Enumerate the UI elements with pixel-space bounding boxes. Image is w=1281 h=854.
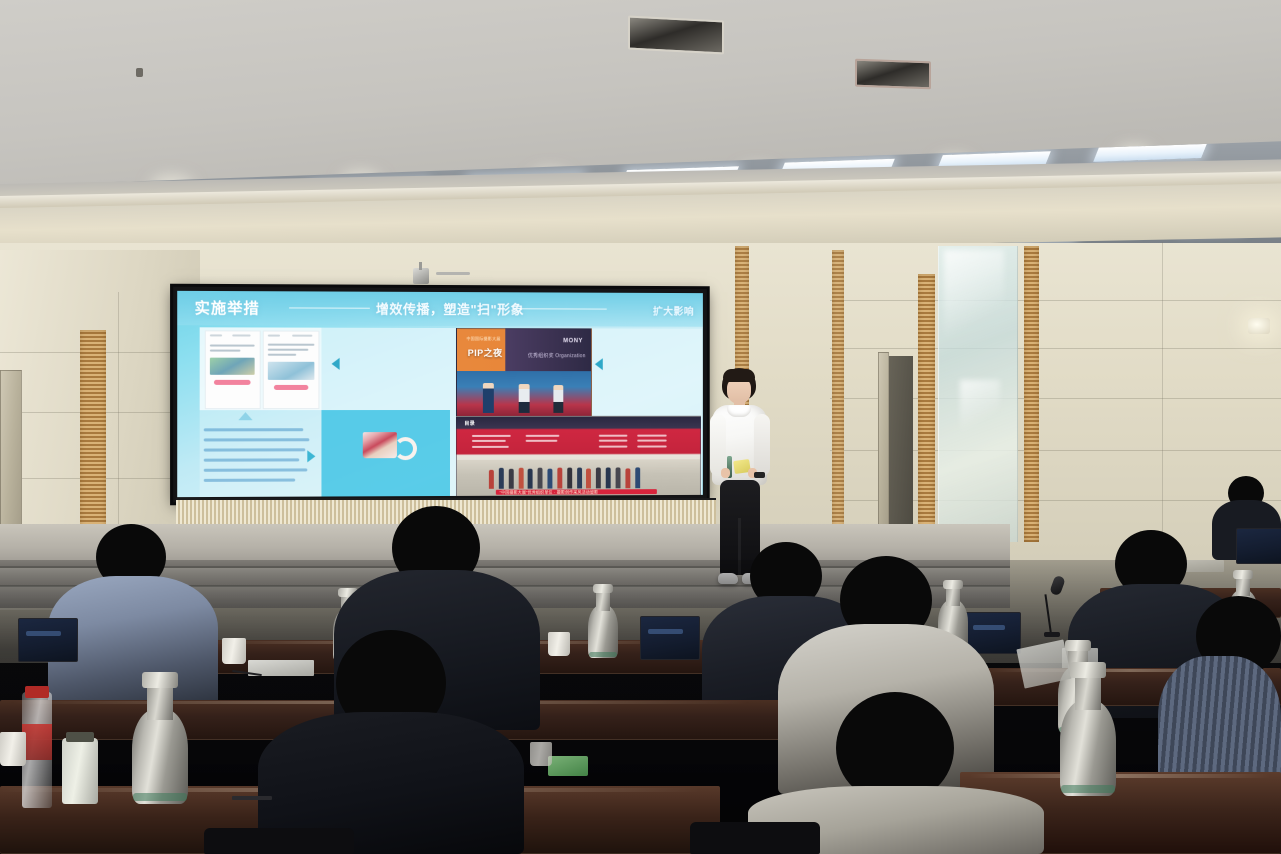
laptop-screen-glow xyxy=(973,625,1005,630)
arrow-left-icon xyxy=(332,358,340,370)
microphone-base xyxy=(1044,632,1060,637)
article-thumbnail xyxy=(210,358,255,375)
ceramic-cup-4 xyxy=(0,732,26,766)
thermos-body xyxy=(132,709,188,804)
award-figure xyxy=(519,384,530,413)
catalog-line xyxy=(526,434,560,436)
text-line xyxy=(292,335,312,337)
thermos-cap xyxy=(593,584,612,593)
poster-right-subheadline: 优秀组织奖 Organization xyxy=(528,352,586,359)
slide-center-title: 增效传播，塑造"扫"形象 xyxy=(376,299,524,319)
group-photo-banner: "中国摄影大展"优秀组织单位 · 摄影创作采风活动留影 xyxy=(496,489,656,495)
wood-slat-accent-far2 xyxy=(832,250,844,538)
campaign-text-line xyxy=(204,468,308,471)
arrow-right-icon xyxy=(307,450,315,462)
poster-subheadline: 中国国际摄影大展 xyxy=(466,336,500,342)
campaign-text-line xyxy=(204,438,310,441)
text-line xyxy=(210,345,255,347)
thermos-base-ring xyxy=(1061,785,1115,793)
group-member xyxy=(528,468,533,488)
thermos-body xyxy=(1060,700,1116,796)
table-highlight xyxy=(970,774,1270,778)
wechat-screenshot-b xyxy=(263,331,320,410)
thermos-cap xyxy=(943,580,962,589)
group-member xyxy=(586,468,591,488)
laptop-9 xyxy=(1236,528,1281,562)
hvac-vent-center xyxy=(628,15,724,54)
arrow-left-icon-2 xyxy=(595,358,603,370)
door-left xyxy=(0,370,22,544)
text-line xyxy=(268,335,280,337)
presenter-collar xyxy=(727,405,751,417)
catalog-line xyxy=(637,440,666,442)
group-member xyxy=(547,468,552,488)
text-line xyxy=(210,350,241,352)
article-thumbnail xyxy=(268,362,315,380)
ceiling-panel-light xyxy=(1093,144,1207,162)
wall-seam xyxy=(1162,242,1163,542)
presenter-fringe xyxy=(723,369,755,382)
group-member xyxy=(538,468,543,489)
thermos-flask-f xyxy=(132,672,188,804)
laptop-1 xyxy=(18,618,76,660)
article-button[interactable] xyxy=(274,385,308,390)
poster-headline: PIP之夜 xyxy=(468,346,503,359)
campaign-text-line xyxy=(204,448,306,451)
presenter-wristwatch xyxy=(754,472,765,478)
tissue-box-b xyxy=(548,756,588,776)
ceramic-cup-3 xyxy=(530,742,552,766)
poster-right-headline: MONY xyxy=(563,338,583,344)
slide-pale-column xyxy=(321,328,450,410)
text-line xyxy=(268,349,309,351)
chair-back-left xyxy=(204,828,354,854)
catalog-group-photo-poster: 目录 xyxy=(456,416,701,497)
group-photo: "中国摄影大展"优秀组织单位 · 摄影创作采风活动留影 xyxy=(457,459,700,496)
ceramic-cup-1 xyxy=(222,638,246,664)
bottle-label xyxy=(22,724,52,760)
laptop-screen-glow xyxy=(26,631,61,636)
slide-pale-lower-left xyxy=(200,410,322,497)
thermos-cap xyxy=(142,672,178,688)
wood-slat-accent-left xyxy=(80,330,106,545)
award-figure xyxy=(554,385,564,413)
text-line xyxy=(268,354,296,356)
laptop-screen xyxy=(640,616,700,660)
slide-right-title: 扩大影响 xyxy=(653,303,694,318)
presenter-left-arm xyxy=(710,414,726,476)
thermos-base-ring xyxy=(589,652,618,656)
text-line xyxy=(268,344,315,346)
wall-sconce-light xyxy=(1248,318,1270,334)
gooseneck-microphone-a[interactable] xyxy=(1036,576,1076,636)
group-member xyxy=(606,468,611,488)
led-display-screen: 实施举措 增效传播，塑造"扫"形象 扩大影响 xyxy=(173,287,707,502)
campaign-text-line xyxy=(204,428,304,431)
presenter-left-hand xyxy=(721,468,730,478)
laptop-screen xyxy=(18,618,78,662)
pen-2 xyxy=(232,796,272,800)
catalog-line xyxy=(472,440,506,442)
wall-seam xyxy=(118,292,119,532)
wechat-screenshot-a xyxy=(205,330,261,409)
ceiling-projector xyxy=(413,268,429,284)
group-member xyxy=(615,467,620,488)
glass-reflection xyxy=(960,380,1000,450)
slide-title: 实施举措 xyxy=(195,297,260,318)
pip-award-poster: 中国国际摄影大展 PIP之夜 MONY 优秀组织奖 Organization xyxy=(456,328,592,417)
catalog-line xyxy=(599,440,628,442)
award-figure xyxy=(483,383,494,413)
thermos-flask-b xyxy=(588,584,618,658)
poster-catalog-headline: 目录 xyxy=(464,420,475,427)
water-bottle-white xyxy=(62,738,98,804)
papers-9 xyxy=(1182,560,1224,572)
text-line xyxy=(210,334,222,336)
laptop-screen xyxy=(1236,528,1281,564)
group-member xyxy=(567,468,572,489)
bottle-cap xyxy=(25,686,49,698)
article-button[interactable] xyxy=(214,380,251,385)
campaign-text-line xyxy=(204,458,299,461)
text-line xyxy=(232,334,250,336)
microphone-stem xyxy=(1044,594,1052,634)
laptop-3 xyxy=(640,616,698,658)
thermos-base-ring xyxy=(133,793,187,801)
ceiling-mount-arm xyxy=(419,262,422,270)
glass-reflection xyxy=(944,250,1004,370)
group-member xyxy=(596,467,601,488)
catalog-line xyxy=(599,445,628,447)
campaign-text-line xyxy=(204,479,295,482)
group-member xyxy=(557,467,562,488)
group-member xyxy=(508,469,513,489)
thermos-body xyxy=(588,605,618,658)
group-photo-banner-text: "中国摄影大展"优秀组织单位 · 摄影创作采风活动留影 xyxy=(499,490,598,496)
mug-handle xyxy=(394,437,417,460)
mug-body xyxy=(363,432,397,458)
group-member xyxy=(489,470,494,489)
catalog-line xyxy=(472,446,509,448)
catalog-line xyxy=(472,434,511,436)
bottle-cap-white xyxy=(66,732,94,742)
laptop-4 xyxy=(965,612,1019,652)
group-member xyxy=(499,468,504,489)
group-member xyxy=(577,468,582,489)
triangle-up-icon xyxy=(238,412,252,420)
sprinkler-head xyxy=(136,68,143,77)
thermos-flask-g xyxy=(1060,662,1116,796)
catalog-line xyxy=(637,445,666,447)
microphone-head xyxy=(1049,575,1066,597)
thermos-cap xyxy=(1233,570,1252,579)
presentation-slide: 实施举措 增效传播，塑造"扫"形象 扩大影响 xyxy=(177,291,703,497)
ceramic-cup-2 xyxy=(548,632,570,656)
laptop-screen-glow xyxy=(648,629,683,634)
group-member xyxy=(518,467,523,488)
ceiling-fan-mount xyxy=(436,272,470,275)
group-member xyxy=(625,468,630,488)
catalog-line xyxy=(599,434,628,436)
conference-room-photo: 实施举措 增效传播，塑造"扫"形象 扩大影响 xyxy=(0,0,1281,854)
catalog-line xyxy=(637,434,666,436)
chair-back-right xyxy=(690,822,820,854)
presenter-right-arm xyxy=(754,414,770,476)
group-member xyxy=(635,468,640,488)
screen-bezel: 实施举措 增效传播，塑造"扫"形象 扩大影响 xyxy=(177,291,703,497)
thermos-cap xyxy=(1065,640,1091,651)
hvac-vent-right xyxy=(855,59,931,90)
wall-seam xyxy=(830,300,1281,301)
wall-seam xyxy=(830,348,1281,349)
catalog-line xyxy=(526,440,558,442)
thermos-cap xyxy=(1070,662,1106,678)
wood-slat-accent-right xyxy=(1024,246,1039,542)
